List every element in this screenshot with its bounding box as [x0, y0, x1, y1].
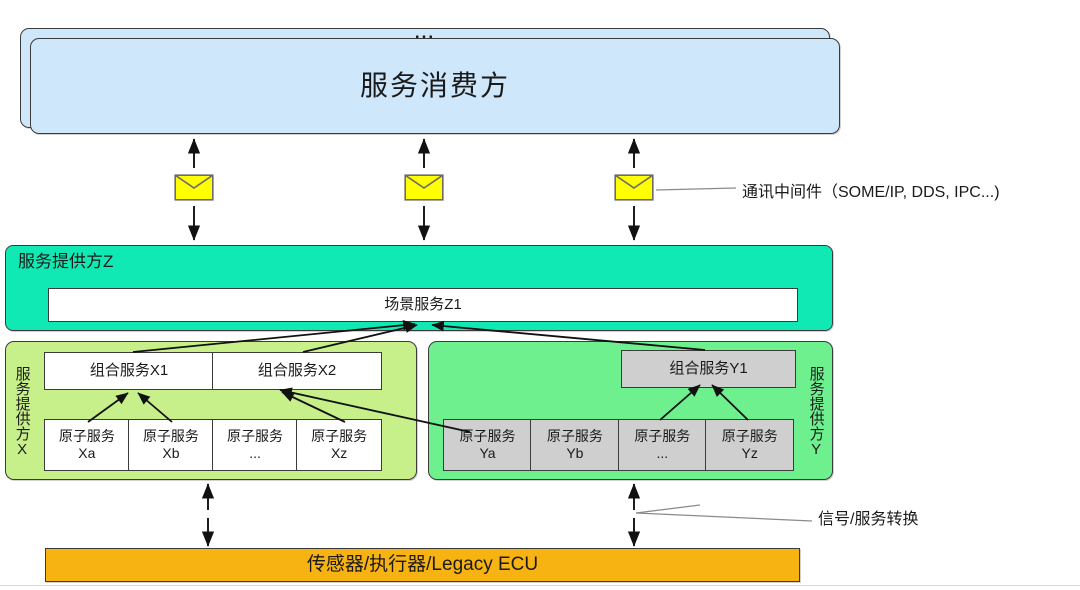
envelope-icon[interactable] [614, 174, 654, 201]
leader-line-signal-kink [636, 505, 700, 513]
atomic-service-yb-line1: 原子服务 [547, 428, 603, 445]
provider-z-title: 服务提供方Z [18, 252, 113, 272]
atomic-service-xz-line1: 原子服务 [311, 428, 367, 445]
atomic-service-xb-line1: 原子服务 [143, 428, 199, 445]
provider-x-container[interactable]: 服务提供方X 组合服务X1 组合服务X2 原子服务 Xa 原子服务 Xb 原子服… [5, 341, 417, 480]
atomic-service-x-ellipsis[interactable]: 原子服务 ... [212, 419, 298, 471]
atomic-service-yz-line1: 原子服务 [722, 428, 778, 445]
ecu-label: 传感器/执行器/Legacy ECU [307, 554, 538, 576]
atomic-service-row-y: 原子服务 Ya 原子服务 Yb 原子服务 ... 原子服务 Yz [443, 419, 796, 471]
atomic-service-x-ellipsis-line1: 原子服务 [227, 428, 283, 445]
envelope-icon[interactable] [404, 174, 444, 201]
atomic-service-y-ellipsis-line2: ... [656, 445, 668, 462]
atomic-service-xb-line2: Xb [162, 445, 179, 462]
provider-y-container[interactable]: 服务提供方Y 组合服务Y1 原子服务 Ya 原子服务 Yb 原子服务 ... 原… [428, 341, 833, 480]
atomic-service-ya-line2: Ya [479, 445, 495, 462]
provider-z-container[interactable]: 服务提供方Z 场景服务Z1 [5, 245, 833, 331]
service-consumer-label: 服务消费方 [360, 69, 510, 102]
atomic-service-row-x: 原子服务 Xa 原子服务 Xb 原子服务 ... 原子服务 Xz [44, 419, 382, 471]
envelope-icon[interactable] [174, 174, 214, 201]
atomic-service-xz-line2: Xz [331, 445, 347, 462]
atomic-service-yz-line2: Yz [742, 445, 758, 462]
composite-service-y1[interactable]: 组合服务Y1 [621, 350, 796, 388]
atomic-service-y-ellipsis[interactable]: 原子服务 ... [618, 419, 707, 471]
diagram-canvas: ... 服务消费方 通讯中间件（SOME/IP, DDS, IPC...) 服务… [0, 0, 1080, 590]
composite-service-x1-label: 组合服务X1 [90, 362, 168, 380]
provider-x-side-label: 服务提供方X [12, 350, 32, 474]
atomic-service-xa-line1: 原子服务 [59, 428, 115, 445]
scene-service-z1-label: 场景服务Z1 [384, 296, 462, 314]
atomic-service-xz[interactable]: 原子服务 Xz [296, 419, 382, 471]
consumer-stack-ellipsis: ... [0, 24, 850, 41]
atomic-service-ya[interactable]: 原子服务 Ya [443, 419, 532, 471]
composite-service-x2-label: 组合服务X2 [258, 362, 336, 380]
atomic-service-yb-line2: Yb [566, 445, 583, 462]
atomic-service-xa[interactable]: 原子服务 Xa [44, 419, 130, 471]
atomic-service-xa-line2: Xa [78, 445, 95, 462]
bottom-divider [0, 585, 1080, 586]
atomic-service-yb[interactable]: 原子服务 Yb [530, 419, 619, 471]
service-consumer-card[interactable]: 服务消费方 [30, 38, 840, 134]
atomic-service-ya-line1: 原子服务 [460, 428, 516, 445]
composite-service-y1-label: 组合服务Y1 [669, 360, 747, 378]
leader-line-signal [636, 513, 812, 521]
signal-conversion-annotation: 信号/服务转换 [818, 505, 918, 529]
composite-service-x1[interactable]: 组合服务X1 [44, 352, 214, 390]
middleware-annotation: 通讯中间件（SOME/IP, DDS, IPC...) [742, 178, 1000, 202]
provider-y-side-label: 服务提供方Y [806, 350, 826, 474]
ecu-bar[interactable]: 传感器/执行器/Legacy ECU [45, 548, 800, 582]
composite-service-x2[interactable]: 组合服务X2 [212, 352, 382, 390]
scene-service-z1[interactable]: 场景服务Z1 [48, 288, 798, 322]
leader-line-middleware [656, 188, 736, 190]
atomic-service-xb[interactable]: 原子服务 Xb [128, 419, 214, 471]
atomic-service-x-ellipsis-line2: ... [249, 445, 261, 462]
atomic-service-y-ellipsis-line1: 原子服务 [634, 428, 690, 445]
atomic-service-yz[interactable]: 原子服务 Yz [705, 419, 794, 471]
